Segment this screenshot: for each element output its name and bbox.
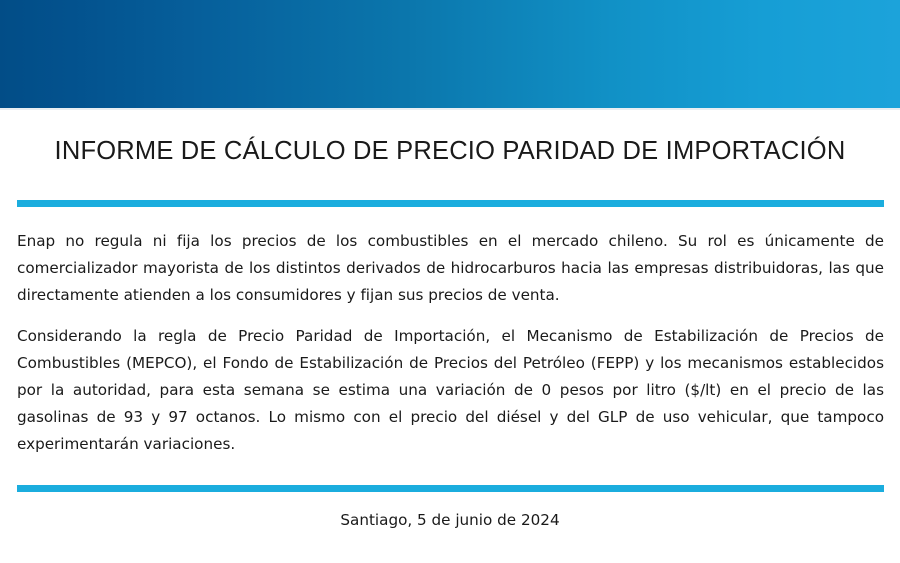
paragraph: Enap no regula ni fija los precios de lo… [17, 228, 884, 309]
header-hairline-divider [0, 108, 900, 110]
footer-date: Santiago, 5 de junio de 2024 [0, 511, 900, 529]
divider-rule-top [17, 200, 884, 207]
body-content: Enap no regula ni fija los precios de lo… [17, 228, 884, 458]
paragraph: Considerando la regla de Precio Paridad … [17, 323, 884, 458]
divider-rule-bottom [17, 485, 884, 492]
header-gradient-banner [0, 0, 900, 108]
page-title: INFORME DE CÁLCULO DE PRECIO PARIDAD DE … [0, 137, 900, 166]
document-page: INFORME DE CÁLCULO DE PRECIO PARIDAD DE … [0, 0, 900, 563]
